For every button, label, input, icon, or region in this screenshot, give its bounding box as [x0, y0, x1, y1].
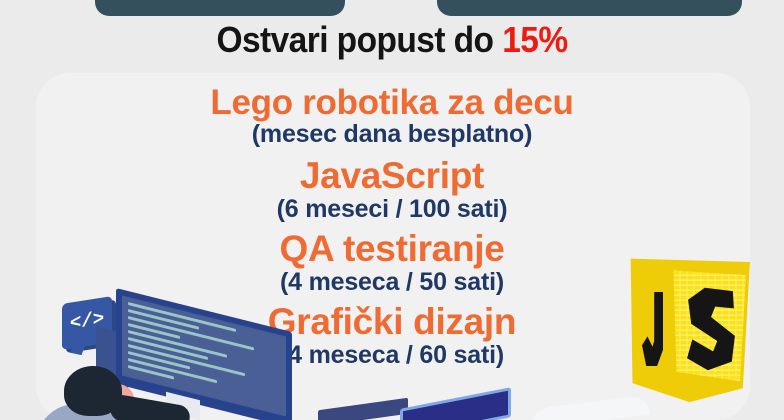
- course-duration: (6 meseci / 100 sati): [0, 195, 784, 223]
- course-name: Lego robotika za decu: [0, 82, 784, 123]
- headline-prefix: Ostvari popust do: [216, 19, 502, 60]
- course-item[interactable]: Lego robotika za decu (mesec dana bespla…: [0, 82, 784, 148]
- course-name: JavaScript: [0, 154, 784, 198]
- course-duration: (mesec dana besplatno): [0, 120, 784, 148]
- course-item[interactable]: JavaScript (6 meseci / 100 sati): [0, 154, 784, 223]
- code-bubble-tail: [70, 341, 85, 355]
- poster-canvas: Ostvari popust do 15% Lego robotika za d…: [0, 0, 784, 420]
- top-pill-right[interactable]: [437, 0, 742, 16]
- javascript-logo-icon: [628, 252, 756, 402]
- headline: Ostvari popust do 15%: [27, 20, 756, 60]
- code-lines: [128, 302, 282, 410]
- headline-discount-percent: 15%: [502, 19, 567, 60]
- top-pill-left[interactable]: [95, 0, 345, 16]
- coder-illustration: </>: [0, 288, 310, 420]
